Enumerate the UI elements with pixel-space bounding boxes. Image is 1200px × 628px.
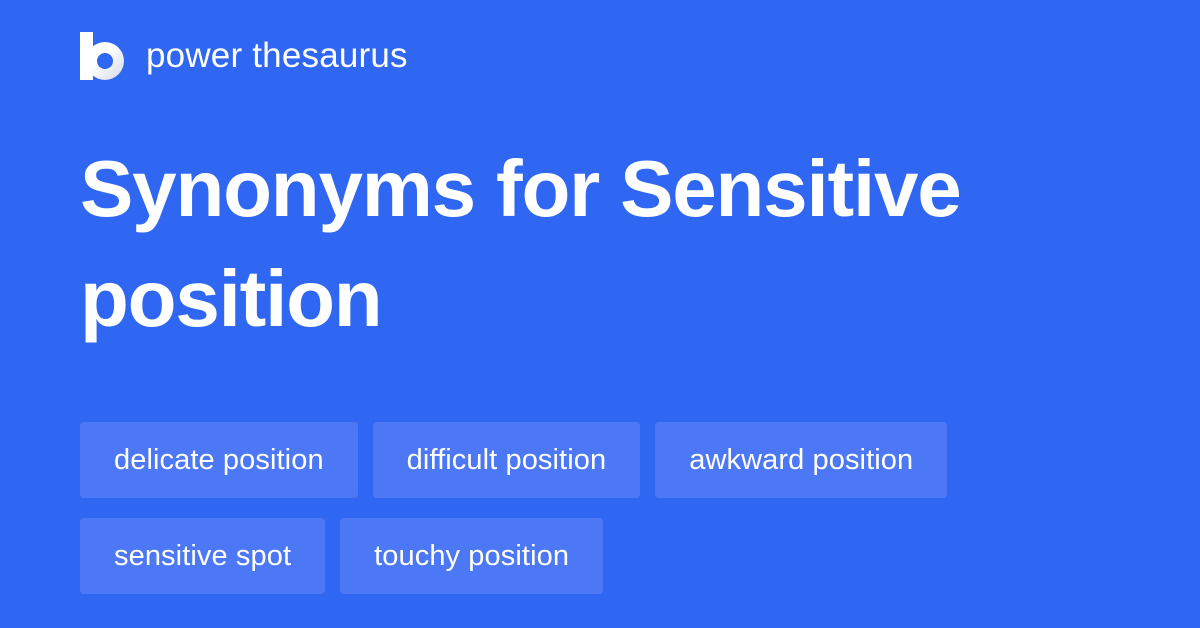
synonym-chip[interactable]: touchy position — [340, 518, 603, 594]
logo-hole — [97, 53, 113, 69]
synonym-chip[interactable]: awkward position — [655, 422, 947, 498]
synonym-chip-list: delicate position difficult position awk… — [80, 422, 1120, 594]
synonym-chip[interactable]: delicate position — [80, 422, 358, 498]
page-title: Synonyms for Sensitive position — [80, 134, 1040, 354]
brand-name: power thesaurus — [146, 36, 408, 76]
brand-header[interactable]: power thesaurus — [80, 28, 408, 84]
power-thesaurus-b-logo-icon — [80, 32, 124, 80]
synonym-chip[interactable]: sensitive spot — [80, 518, 325, 594]
synonym-chip[interactable]: difficult position — [373, 422, 641, 498]
thesaurus-synonyms-card: power thesaurus Synonyms for Sensitive p… — [0, 0, 1200, 628]
